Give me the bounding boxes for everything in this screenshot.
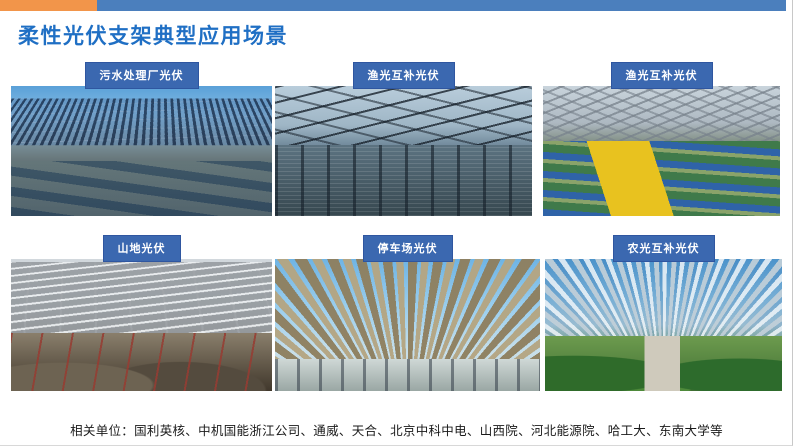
agriculture-photo-art xyxy=(545,259,782,391)
sewage-treatment-plant-pv-photo xyxy=(11,86,272,216)
scenario-label-agriculture: 农光互补光伏 xyxy=(613,235,715,262)
fishery-pv-complementary-photo xyxy=(275,86,532,216)
slide-title: 柔性光伏支架典型应用场景 xyxy=(18,22,288,50)
scenario-label-fishery-outdoor: 渔光互补光伏 xyxy=(353,62,455,89)
agriculture-canopy-fan-art xyxy=(545,259,782,391)
parking-photo-art xyxy=(275,259,540,391)
agriculture-pv-complementary-photo xyxy=(545,259,782,391)
sewage-photo-art xyxy=(11,86,272,216)
scenario-card-grid: 污水处理厂光伏 渔光互补光伏 渔光互补光伏 山地光伏 停车场光伏 xyxy=(0,62,793,402)
parking-lot-pv-photo xyxy=(275,259,540,391)
top-accent-bar-blue-segment xyxy=(97,0,786,11)
scenario-label-sewage-plant: 污水处理厂光伏 xyxy=(85,62,199,89)
top-accent-bar xyxy=(0,0,786,11)
mountain-photo-art xyxy=(11,259,272,391)
parking-canopy-fan-art xyxy=(275,259,540,391)
presentation-slide: 柔性光伏支架典型应用场景 污水处理厂光伏 渔光互补光伏 渔光互补光伏 山地光伏 xyxy=(0,0,793,446)
scenario-label-parking-lot: 停车场光伏 xyxy=(363,235,453,262)
scenario-label-fishery-indoor: 渔光互补光伏 xyxy=(611,62,713,89)
fishery-outdoor-photo-art xyxy=(275,86,532,216)
top-accent-bar-orange-segment xyxy=(0,0,97,11)
mountain-pv-photo xyxy=(11,259,272,391)
fishery-indoor-photo-art xyxy=(543,86,780,216)
scenario-label-mountain: 山地光伏 xyxy=(103,235,181,262)
fishery-pv-indoor-photo xyxy=(543,86,780,216)
related-units-footer: 相关单位：国利英核、中机国能浙江公司、通威、天合、北京中科中电、山西院、河北能源… xyxy=(0,420,793,439)
